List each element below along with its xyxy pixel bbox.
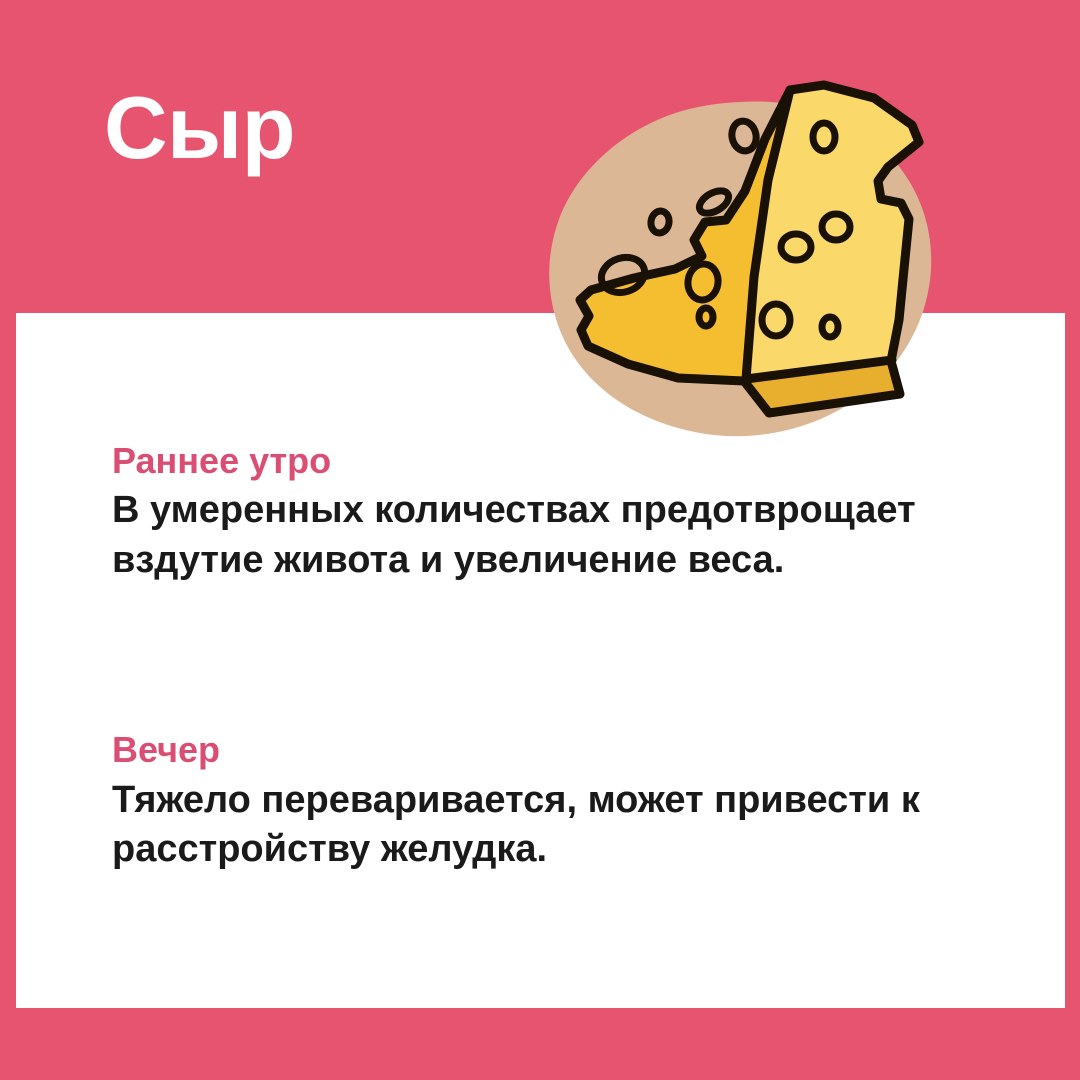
- section-heading-evening: Вечер: [112, 729, 1012, 771]
- section-body-early-morning: В умеренных количествах предотврощает вз…: [112, 486, 992, 585]
- page-title: Сыр: [104, 84, 295, 172]
- section-evening: Вечер Тяжело переваривается, может приве…: [112, 729, 1012, 874]
- cheese-illustration: [528, 72, 948, 472]
- poster-card: Сыр: [0, 0, 1080, 1080]
- section-body-evening: Тяжело переваривается, может привести к …: [112, 776, 992, 875]
- section-early-morning: Раннее утро В умеренных количествах пред…: [112, 440, 1012, 585]
- sections-container: Раннее утро В умеренных количествах пред…: [112, 440, 1012, 875]
- section-heading-early-morning: Раннее утро: [112, 440, 1012, 482]
